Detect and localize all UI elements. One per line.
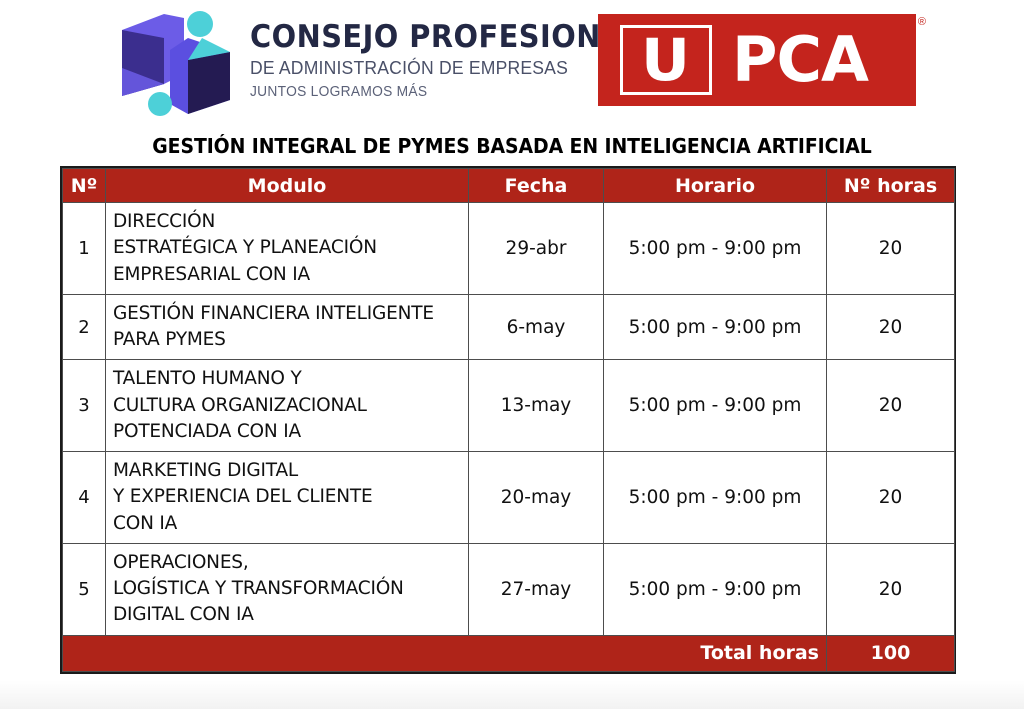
- cell-horas: 20: [827, 360, 955, 452]
- schedule-table-container: Nº Modulo Fecha Horario Nº horas 1 DIREC…: [60, 166, 956, 674]
- upca-pca-letters: PCA: [732, 29, 868, 91]
- table-header-row: Nº Modulo Fecha Horario Nº horas: [63, 169, 955, 203]
- cell-horario: 5:00 pm - 9:00 pm: [604, 360, 827, 452]
- modulo-line: MARKETING DIGITAL: [113, 458, 468, 484]
- cell-horario: 5:00 pm - 9:00 pm: [604, 452, 827, 544]
- cell-fecha: 29-abr: [469, 203, 604, 295]
- total-value: 100: [827, 635, 955, 671]
- modulo-line: CON IA: [113, 511, 468, 537]
- table-header: Nº Modulo Fecha Horario Nº horas: [63, 169, 955, 203]
- modulo-line: CULTURA ORGANIZACIONAL: [113, 393, 468, 419]
- cell-modulo: OPERACIONES, LOGÍSTICA Y TRANSFORMACIÓN …: [106, 543, 469, 635]
- cell-horas: 20: [827, 543, 955, 635]
- cell-modulo: TALENTO HUMANO Y CULTURA ORGANIZACIONAL …: [106, 360, 469, 452]
- modulo-line: EMPRESARIAL CON IA: [113, 262, 468, 288]
- cell-fecha: 27-may: [469, 543, 604, 635]
- cell-horas: 20: [827, 452, 955, 544]
- modulo-line: POTENCIADA CON IA: [113, 419, 468, 445]
- registered-trademark-icon: ®: [918, 16, 926, 28]
- modulo-line: Y EXPERIENCIA DEL CLIENTE: [113, 484, 468, 510]
- column-header-horas: Nº horas: [827, 169, 955, 203]
- table-row: 5 OPERACIONES, LOGÍSTICA Y TRANSFORMACIÓ…: [63, 543, 955, 635]
- cell-numero: 2: [63, 294, 106, 360]
- modulo-line: DIRECCIÓN: [113, 209, 468, 235]
- table-body: 1 DIRECCIÓN ESTRATÉGICA Y PLANEACIÓN EMP…: [63, 203, 955, 636]
- modulo-line: GESTIÓN FINANCIERA INTELIGENTE: [113, 301, 468, 327]
- column-header-modulo: Modulo: [106, 169, 469, 203]
- table-row: 3 TALENTO HUMANO Y CULTURA ORGANIZACIONA…: [63, 360, 955, 452]
- cell-numero: 4: [63, 452, 106, 544]
- cell-modulo: MARKETING DIGITAL Y EXPERIENCIA DEL CLIE…: [106, 452, 469, 544]
- table-footer: Total horas 100: [63, 635, 955, 671]
- modulo-line: ESTRATÉGICA Y PLANEACIÓN: [113, 235, 468, 261]
- cell-horario: 5:00 pm - 9:00 pm: [604, 543, 827, 635]
- cell-horas: 20: [827, 203, 955, 295]
- modulo-line: TALENTO HUMANO Y: [113, 366, 468, 392]
- consejo-profesional-logo-icon: [112, 8, 240, 120]
- cell-horario: 5:00 pm - 9:00 pm: [604, 203, 827, 295]
- page-title: GESTIÓN INTEGRAL DE PYMES BASADA EN INTE…: [41, 134, 983, 158]
- schedule-table: Nº Modulo Fecha Horario Nº horas 1 DIREC…: [62, 168, 955, 672]
- column-header-horario: Horario: [604, 169, 827, 203]
- table-total-row: Total horas 100: [63, 635, 955, 671]
- document-page: CONSEJO PROFESIONAL DE ADMINISTRACIÓN DE…: [0, 0, 1024, 709]
- upca-logo-icon: U PCA ®: [598, 14, 916, 106]
- cell-modulo: DIRECCIÓN ESTRATÉGICA Y PLANEACIÓN EMPRE…: [106, 203, 469, 295]
- cell-numero: 5: [63, 543, 106, 635]
- cell-fecha: 6-may: [469, 294, 604, 360]
- consejo-tagline: JUNTOS LOGRAMOS MÁS: [250, 83, 535, 102]
- modulo-line: DIGITAL CON IA: [113, 602, 468, 628]
- upca-u-letter: U: [641, 31, 690, 89]
- modulo-line: PARA PYMES: [113, 327, 468, 353]
- consejo-name-primary: CONSEJO PROFESIONAL: [250, 22, 529, 54]
- column-header-numero: Nº: [63, 169, 106, 203]
- table-row: 2 GESTIÓN FINANCIERA INTELIGENTE PARA PY…: [63, 294, 955, 360]
- column-header-fecha: Fecha: [469, 169, 604, 203]
- cell-numero: 3: [63, 360, 106, 452]
- total-label: Total horas: [63, 635, 827, 671]
- consejo-name-secondary: DE ADMINISTRACIÓN DE EMPRESAS: [250, 56, 535, 79]
- cell-horario: 5:00 pm - 9:00 pm: [604, 294, 827, 360]
- cell-fecha: 13-may: [469, 360, 604, 452]
- document-header: CONSEJO PROFESIONAL DE ADMINISTRACIÓN DE…: [0, 0, 1024, 128]
- cell-modulo: GESTIÓN FINANCIERA INTELIGENTE PARA PYME…: [106, 294, 469, 360]
- upca-u-box: U: [620, 25, 712, 95]
- cell-horas: 20: [827, 294, 955, 360]
- modulo-line: OPERACIONES,: [113, 550, 468, 576]
- consejo-profesional-wordmark: CONSEJO PROFESIONAL DE ADMINISTRACIÓN DE…: [250, 22, 550, 102]
- cell-fecha: 20-may: [469, 452, 604, 544]
- table-row: 1 DIRECCIÓN ESTRATÉGICA Y PLANEACIÓN EMP…: [63, 203, 955, 295]
- table-row: 4 MARKETING DIGITAL Y EXPERIENCIA DEL CL…: [63, 452, 955, 544]
- cell-numero: 1: [63, 203, 106, 295]
- modulo-line: LOGÍSTICA Y TRANSFORMACIÓN: [113, 576, 468, 602]
